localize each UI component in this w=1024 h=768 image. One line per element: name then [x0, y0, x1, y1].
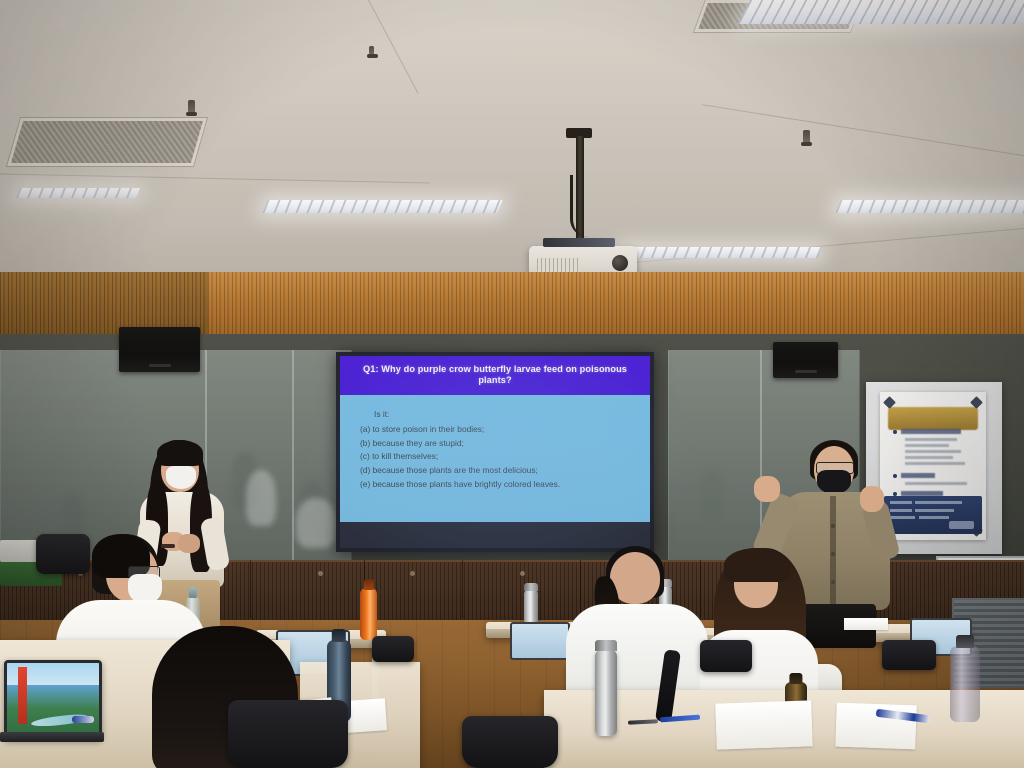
classroom-photo: Q1: Why do purple crow butterfly larvae … — [0, 0, 1024, 768]
bottle-clear-large — [950, 646, 980, 722]
ceiling-air-vent — [7, 118, 207, 166]
silhouette-behind-glass — [246, 470, 276, 526]
wall-speaker-right — [773, 342, 838, 378]
poster-text-line — [905, 450, 961, 453]
thermos-silver — [595, 650, 617, 736]
projector-vent — [537, 258, 579, 272]
slide-option-e: (e) because those plants have brightly c… — [360, 478, 640, 491]
projection-screen: Q1: Why do purple crow butterfly larvae … — [336, 352, 654, 552]
backpack-black — [462, 716, 558, 768]
jacket-button — [831, 580, 835, 584]
presentation-slide: Q1: Why do purple crow butterfly larvae … — [340, 356, 650, 548]
slide-prompt: Is it: — [374, 408, 640, 421]
poster-title-banner — [888, 407, 977, 431]
ceiling-light — [618, 247, 822, 258]
monitor-small — [510, 622, 570, 660]
laptop-tablet — [4, 660, 102, 740]
poster-footer-line — [919, 516, 948, 519]
ceiling-sprinkler — [803, 130, 810, 143]
jacket-button — [831, 552, 835, 556]
slide-option-a: (a) to store poison in their bodies; — [360, 423, 640, 436]
projector-lens — [612, 255, 628, 271]
poster-text-line — [905, 438, 957, 441]
hand-right-gesture — [860, 486, 884, 512]
silhouette-behind-glass — [62, 492, 84, 534]
slide-option-c: (c) to kill themselves; — [360, 450, 640, 463]
laptop-base — [0, 732, 104, 742]
ceiling-sprinkler — [369, 46, 374, 55]
jacket-placket — [830, 496, 836, 606]
paper-sheet — [844, 618, 888, 630]
slide-body: Is it: (a) to store poison in their bodi… — [340, 395, 650, 522]
poster-footer-line — [915, 509, 954, 512]
poster-text-line — [905, 456, 953, 459]
projector-cable — [570, 175, 589, 237]
ceiling-light — [262, 200, 502, 213]
ceiling-light — [16, 188, 140, 198]
backpack-black — [228, 700, 348, 768]
ceiling-light — [738, 0, 1024, 24]
jacket-button — [831, 524, 835, 528]
bag-small — [700, 640, 752, 672]
slide-footer-band — [340, 522, 650, 548]
poster-text-line — [905, 482, 967, 485]
water-bottle-orange — [360, 588, 377, 640]
hair-top — [724, 548, 790, 582]
face-mask — [817, 470, 851, 494]
bag-small — [882, 640, 936, 670]
slide-title: Q1: Why do purple crow butterfly larvae … — [340, 356, 650, 395]
projector-bracket — [543, 238, 615, 247]
slide-option-b: (b) because they are stupid; — [360, 437, 640, 450]
hair-top — [157, 440, 203, 466]
poster-footer-line — [915, 501, 962, 504]
paper-sheet — [715, 700, 813, 749]
glass-mullion — [292, 350, 294, 565]
wall-speaker-left — [119, 327, 200, 372]
ceiling-light — [835, 200, 1024, 213]
slide-option-d: (d) because those plants are the most de… — [360, 464, 640, 477]
poster-qr-block — [949, 521, 974, 529]
pen-blue — [72, 716, 94, 723]
silhouette-behind-glass — [296, 498, 336, 548]
wall-wood-slats-shadow — [0, 272, 208, 334]
hand-left-gesture — [754, 476, 780, 502]
ceiling-sprinkler — [188, 100, 195, 113]
bag-small — [372, 636, 414, 662]
silhouette-behind-glass — [700, 470, 724, 518]
poster-text-line — [905, 462, 965, 465]
face-mask — [166, 466, 196, 489]
